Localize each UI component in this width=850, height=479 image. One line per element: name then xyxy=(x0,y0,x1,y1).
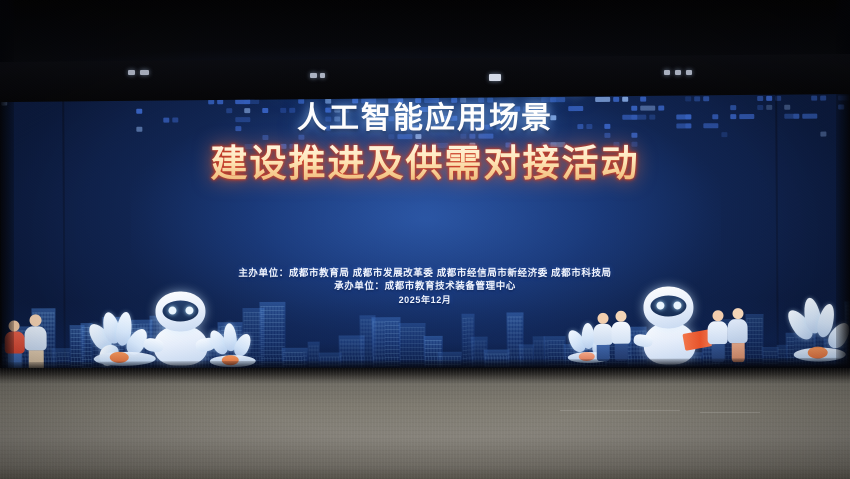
ceiling-light xyxy=(686,70,692,75)
ceiling-light xyxy=(140,70,149,75)
co-organizer-line: 承办单位：成都市教育技术装备管理中心 xyxy=(0,281,850,294)
ceiling-light xyxy=(664,70,670,75)
left-wall-shadow xyxy=(0,0,14,380)
title-line-3: 建设推进及供需对接活动 xyxy=(0,143,850,187)
floor-texture xyxy=(0,368,850,479)
screen-credits-block: 主办单位：成都市教育局 成都市发展改革委 成都市经信局市新经济委 成都市科技局 … xyxy=(0,268,850,307)
event-date: 2025年12月 xyxy=(0,294,850,307)
stage-photo: 2025年成都市基础教育 人工智能应用场景 建设推进及供需对接活动 主办单位：成… xyxy=(0,0,850,479)
ceiling-light xyxy=(128,70,135,75)
ceiling-light xyxy=(320,73,325,78)
organizer-line: 主办单位：成都市教育局 成都市发展改革委 成都市经信局市新经济委 成都市科技局 xyxy=(0,268,850,281)
floor-scuff xyxy=(700,412,760,413)
floor-scuff xyxy=(560,410,680,411)
stage-floor xyxy=(0,368,850,479)
title-line-2: 人工智能应用场景 xyxy=(0,101,850,137)
ceiling-lip xyxy=(0,54,850,102)
ceiling-light xyxy=(675,70,681,75)
ceiling-light xyxy=(310,73,317,78)
ceiling-light xyxy=(489,74,501,81)
